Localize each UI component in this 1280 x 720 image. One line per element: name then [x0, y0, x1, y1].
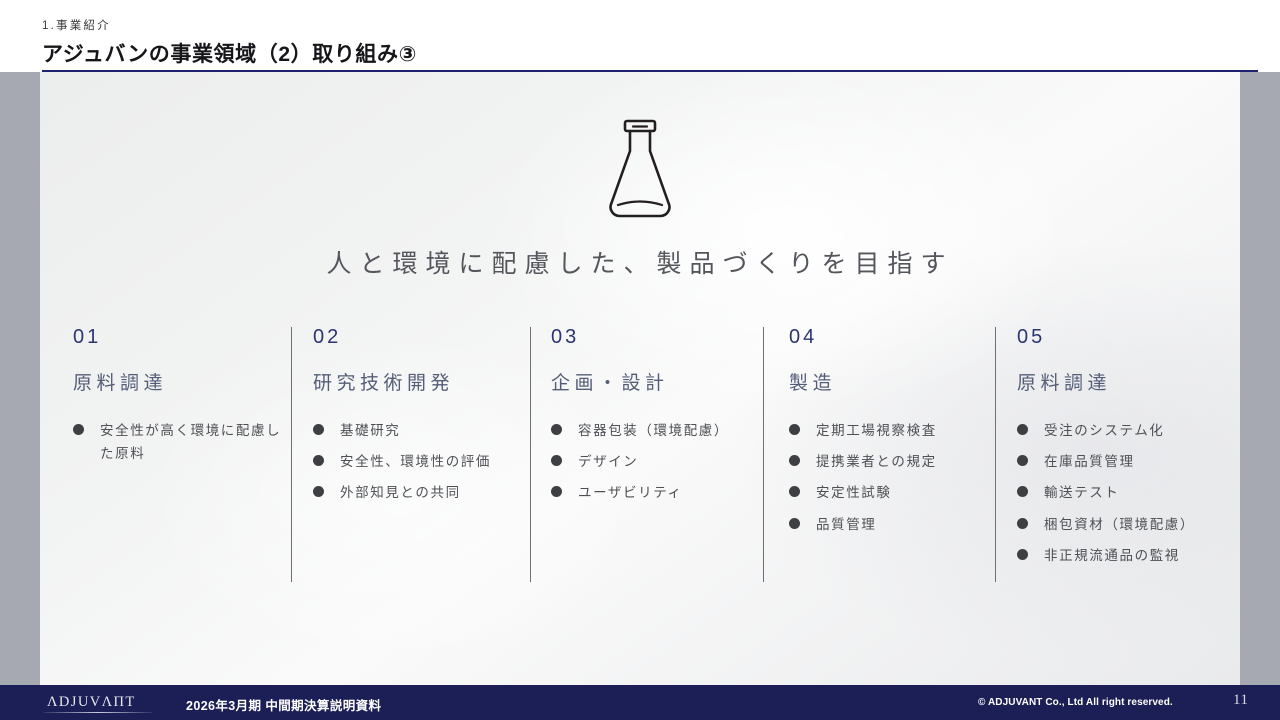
page-title: アジュバンの事業領域（2）取り組み③: [42, 38, 417, 68]
step-number: 02: [313, 327, 523, 347]
list-item: 梱包資材（環境配慮）: [1017, 513, 1232, 536]
bullet-dot: [313, 455, 324, 466]
list-item: 安定性試験: [789, 481, 999, 504]
slide: 1.事業紹介 アジュバンの事業領域（2）取り組み③ 人と環境に配慮した、製品づく…: [0, 0, 1280, 720]
hero-tagline: 人と環境に配慮した、製品づくりを目指す: [40, 244, 1240, 280]
list-item: 容器包装（環境配慮）: [551, 419, 766, 442]
step-heading: 製造: [789, 374, 999, 393]
step-heading: 企画・設計: [551, 374, 766, 393]
bullet-dot: [789, 455, 800, 466]
list-item: ユーザビリティ: [551, 481, 766, 504]
slide-body: 人と環境に配慮した、製品づくりを目指す 01 原料調達 安全性が高く環境に配慮し…: [40, 72, 1240, 685]
list-item-label: 非正規流通品の監視: [1044, 548, 1180, 563]
list-item: 品質管理: [789, 513, 999, 536]
bullet-dot: [1017, 549, 1028, 560]
list-item-label: ユーザビリティ: [578, 485, 683, 500]
column-divider-1: [291, 327, 292, 582]
list-item-label: 安全性が高く環境に配慮した原料: [100, 423, 281, 461]
step-number: 03: [551, 327, 766, 347]
list-item-label: 安定性試験: [816, 485, 892, 500]
step-heading: 原料調達: [73, 374, 283, 393]
process-step-01: 01 原料調達 安全性が高く環境に配慮した原料: [73, 327, 283, 473]
slide-header: 1.事業紹介 アジュバンの事業領域（2）取り組み③: [0, 0, 1280, 72]
step-heading: 研究技術開発: [313, 374, 523, 393]
step-number: 01: [73, 327, 283, 347]
bullet-dot: [1017, 424, 1028, 435]
list-item: 安全性が高く環境に配慮した原料: [73, 419, 283, 465]
list-item: 定期工場視察検査: [789, 419, 999, 442]
step-heading: 原料調達: [1017, 374, 1232, 393]
process-step-02: 02 研究技術開発 基礎研究 安全性、環境性の評価 外部知見との共同: [313, 327, 523, 513]
bullet-dot: [789, 486, 800, 497]
step-bullet-list: 容器包装（環境配慮） デザイン ユーザビリティ: [551, 419, 766, 505]
bullet-dot: [1017, 455, 1028, 466]
bullet-dot: [551, 486, 562, 497]
right-gray-band: [1240, 72, 1280, 685]
list-item-label: 外部知見との共同: [340, 485, 461, 500]
list-item-label: 基礎研究: [340, 423, 400, 438]
bullet-dot: [789, 518, 800, 529]
list-item-label: 定期工場視察検査: [816, 423, 937, 438]
list-item: 提携業者との規定: [789, 450, 999, 473]
list-item: 在庫品質管理: [1017, 450, 1232, 473]
bullet-dot: [313, 486, 324, 497]
list-item-label: 品質管理: [816, 517, 876, 532]
bullet-dot: [313, 424, 324, 435]
list-item-label: 提携業者との規定: [816, 454, 937, 469]
bullet-dot: [551, 424, 562, 435]
step-bullet-list: 受注のシステム化 在庫品質管理 輸送テスト 梱包資材（環境配慮） 非正規流通品の…: [1017, 419, 1232, 567]
process-step-05: 05 原料調達 受注のシステム化 在庫品質管理 輸送テスト 梱包資材（環境配慮）…: [1017, 327, 1232, 575]
list-item-label: 在庫品質管理: [1044, 454, 1135, 469]
column-divider-2: [530, 327, 531, 582]
list-item: 安全性、環境性の評価: [313, 450, 523, 473]
list-item-label: 受注のシステム化: [1044, 423, 1164, 438]
bullet-dot: [551, 455, 562, 466]
bullet-dot: [1017, 518, 1028, 529]
adjuvant-logo: ΛDJUVΛΠT: [47, 694, 136, 711]
list-item-label: 安全性、環境性の評価: [340, 454, 491, 469]
flask-icon: [603, 115, 677, 225]
list-item: 基礎研究: [313, 419, 523, 442]
process-step-04: 04 製造 定期工場視察検査 提携業者との規定 安定性試験 品質管理: [789, 327, 999, 544]
list-item: デザイン: [551, 450, 766, 473]
list-item: 外部知見との共同: [313, 481, 523, 504]
list-item-label: 梱包資材（環境配慮）: [1044, 517, 1195, 532]
step-bullet-list: 安全性が高く環境に配慮した原料: [73, 419, 283, 465]
list-item-label: 輸送テスト: [1044, 485, 1120, 500]
bullet-dot: [1017, 486, 1028, 497]
process-step-03: 03 企画・設計 容器包装（環境配慮） デザイン ユーザビリティ: [551, 327, 766, 513]
bullet-dot: [73, 424, 84, 435]
list-item: 非正規流通品の監視: [1017, 544, 1232, 567]
process-columns: 01 原料調達 安全性が高く環境に配慮した原料 02 研究技術開発 基礎研究 安…: [40, 327, 1240, 667]
list-item: 受注のシステム化: [1017, 419, 1232, 442]
footer-copyright: © ADJUVANT Co., Ltd All right reserved.: [978, 697, 1173, 708]
left-gray-band: [0, 72, 40, 685]
bullet-dot: [789, 424, 800, 435]
logo-underline: [44, 712, 152, 713]
step-number: 05: [1017, 327, 1232, 347]
slide-footer: ΛDJUVΛΠT 2026年3月期 中間期決算説明資料 © ADJUVANT C…: [0, 685, 1280, 720]
list-item: 輸送テスト: [1017, 481, 1232, 504]
list-item-label: デザイン: [578, 454, 638, 469]
section-eyebrow: 1.事業紹介: [42, 17, 111, 33]
list-item-label: 容器包装（環境配慮）: [578, 423, 729, 438]
step-number: 04: [789, 327, 999, 347]
page-number: 11: [1233, 692, 1248, 709]
step-bullet-list: 基礎研究 安全性、環境性の評価 外部知見との共同: [313, 419, 523, 505]
step-bullet-list: 定期工場視察検査 提携業者との規定 安定性試験 品質管理: [789, 419, 999, 536]
footer-document-title: 2026年3月期 中間期決算説明資料: [186, 695, 381, 714]
